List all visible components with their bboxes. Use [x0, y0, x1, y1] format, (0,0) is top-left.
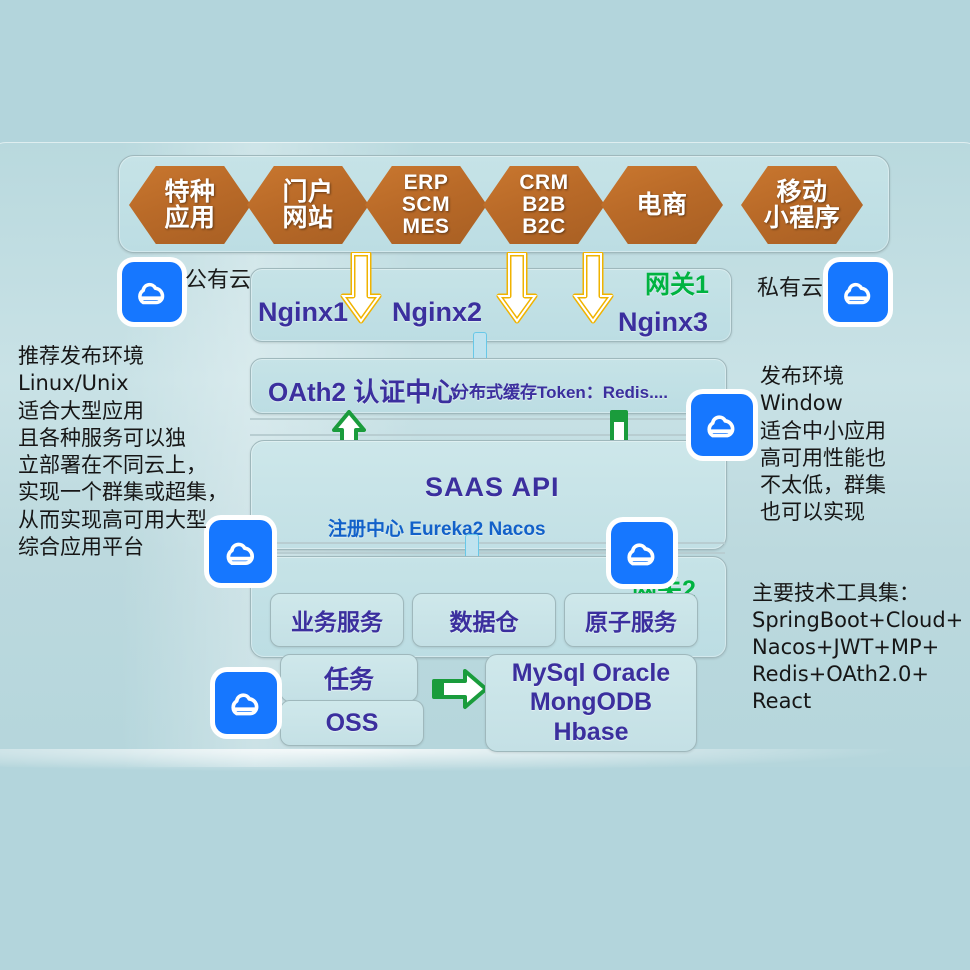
service-box-label: 数据仓: [450, 603, 519, 637]
nginx1-label: Nginx1: [258, 297, 348, 328]
oss-label: OSS: [326, 709, 379, 738]
app-hexagon-3[interactable]: CRM B2B B2C: [483, 166, 605, 244]
public-cloud-label: 公有云: [185, 262, 251, 294]
cloud-icon: [122, 262, 182, 322]
diagram-canvas: 特种 应用 门户 网站 ERP SCM MES CRM B2B B2C 电商 移…: [0, 0, 970, 970]
arrow-down-yellow-icon: [496, 252, 538, 324]
service-box-datawarehouse[interactable]: 数据仓: [412, 593, 556, 647]
app-hexagon-label: 特种 应用: [160, 179, 219, 232]
tech-stack-text: 主要技术工具集： SpringBoot+Cloud+ Nacos+JWT+MP+…: [752, 580, 970, 714]
cloud-icon: [691, 394, 753, 456]
cloud-icon: [215, 672, 277, 734]
oss-box[interactable]: OSS: [280, 700, 424, 746]
app-hexagon-2[interactable]: ERP SCM MES: [365, 166, 487, 244]
app-hexagon-label: 门户 网站: [278, 179, 337, 232]
arrow-down-yellow-icon: [340, 252, 382, 324]
app-hexagon-label: CRM B2B B2C: [515, 172, 572, 239]
saas-api-title: SAAS API: [425, 472, 560, 503]
service-box-label: 原子服务: [585, 603, 677, 637]
database-label: MySql Oracle MongODB Hbase: [512, 659, 670, 748]
applications-strip: 特种 应用 门户 网站 ERP SCM MES CRM B2B B2C 电商 移…: [118, 155, 890, 253]
registry-label: 注册中心 Eureka2 Nacos: [328, 514, 546, 541]
divider-line: [250, 434, 725, 436]
service-box-atomic[interactable]: 原子服务: [564, 593, 698, 647]
database-box[interactable]: MySql Oracle MongODB Hbase: [485, 654, 697, 752]
app-hexagon-4[interactable]: 电商: [601, 166, 723, 244]
left-note-text: 推荐发布环境 Linux/Unix 适合大型应用 且各种服务可以独 立部署在不同…: [18, 343, 233, 561]
gateway1-label: 网关1: [645, 265, 709, 301]
service-box-label: 业务服务: [291, 603, 383, 637]
task-box[interactable]: 任务: [280, 654, 418, 702]
app-hexagon-0[interactable]: 特种 应用: [129, 166, 251, 244]
nginx3-label: Nginx3: [618, 307, 708, 338]
task-label: 任务: [324, 660, 374, 696]
token-cache-label: 分布式缓存Token：Redis....: [452, 378, 668, 403]
app-hexagon-label: 电商: [632, 192, 691, 219]
arrow-right-green-icon: [432, 668, 488, 710]
app-hexagon-1[interactable]: 门户 网站: [247, 166, 369, 244]
cloud-icon: [828, 262, 888, 322]
app-hexagon-label: ERP SCM MES: [398, 172, 454, 239]
oauth2-title: OAth2 认证中心: [268, 372, 457, 409]
nginx2-label: Nginx2: [392, 297, 482, 328]
divider-line: [250, 418, 725, 420]
right-note-text: 发布环境 Window 适合中小应用 高可用性能也 不太低，群集 也可以实现: [760, 363, 960, 527]
app-hexagon-label: 移动 小程序: [760, 179, 845, 232]
service-box-business[interactable]: 业务服务: [270, 593, 404, 647]
app-hexagon-5[interactable]: 移动 小程序: [741, 166, 863, 244]
private-cloud-label: 私有云: [757, 270, 823, 302]
arrow-down-yellow-icon: [572, 252, 614, 324]
cloud-icon: [611, 522, 673, 584]
